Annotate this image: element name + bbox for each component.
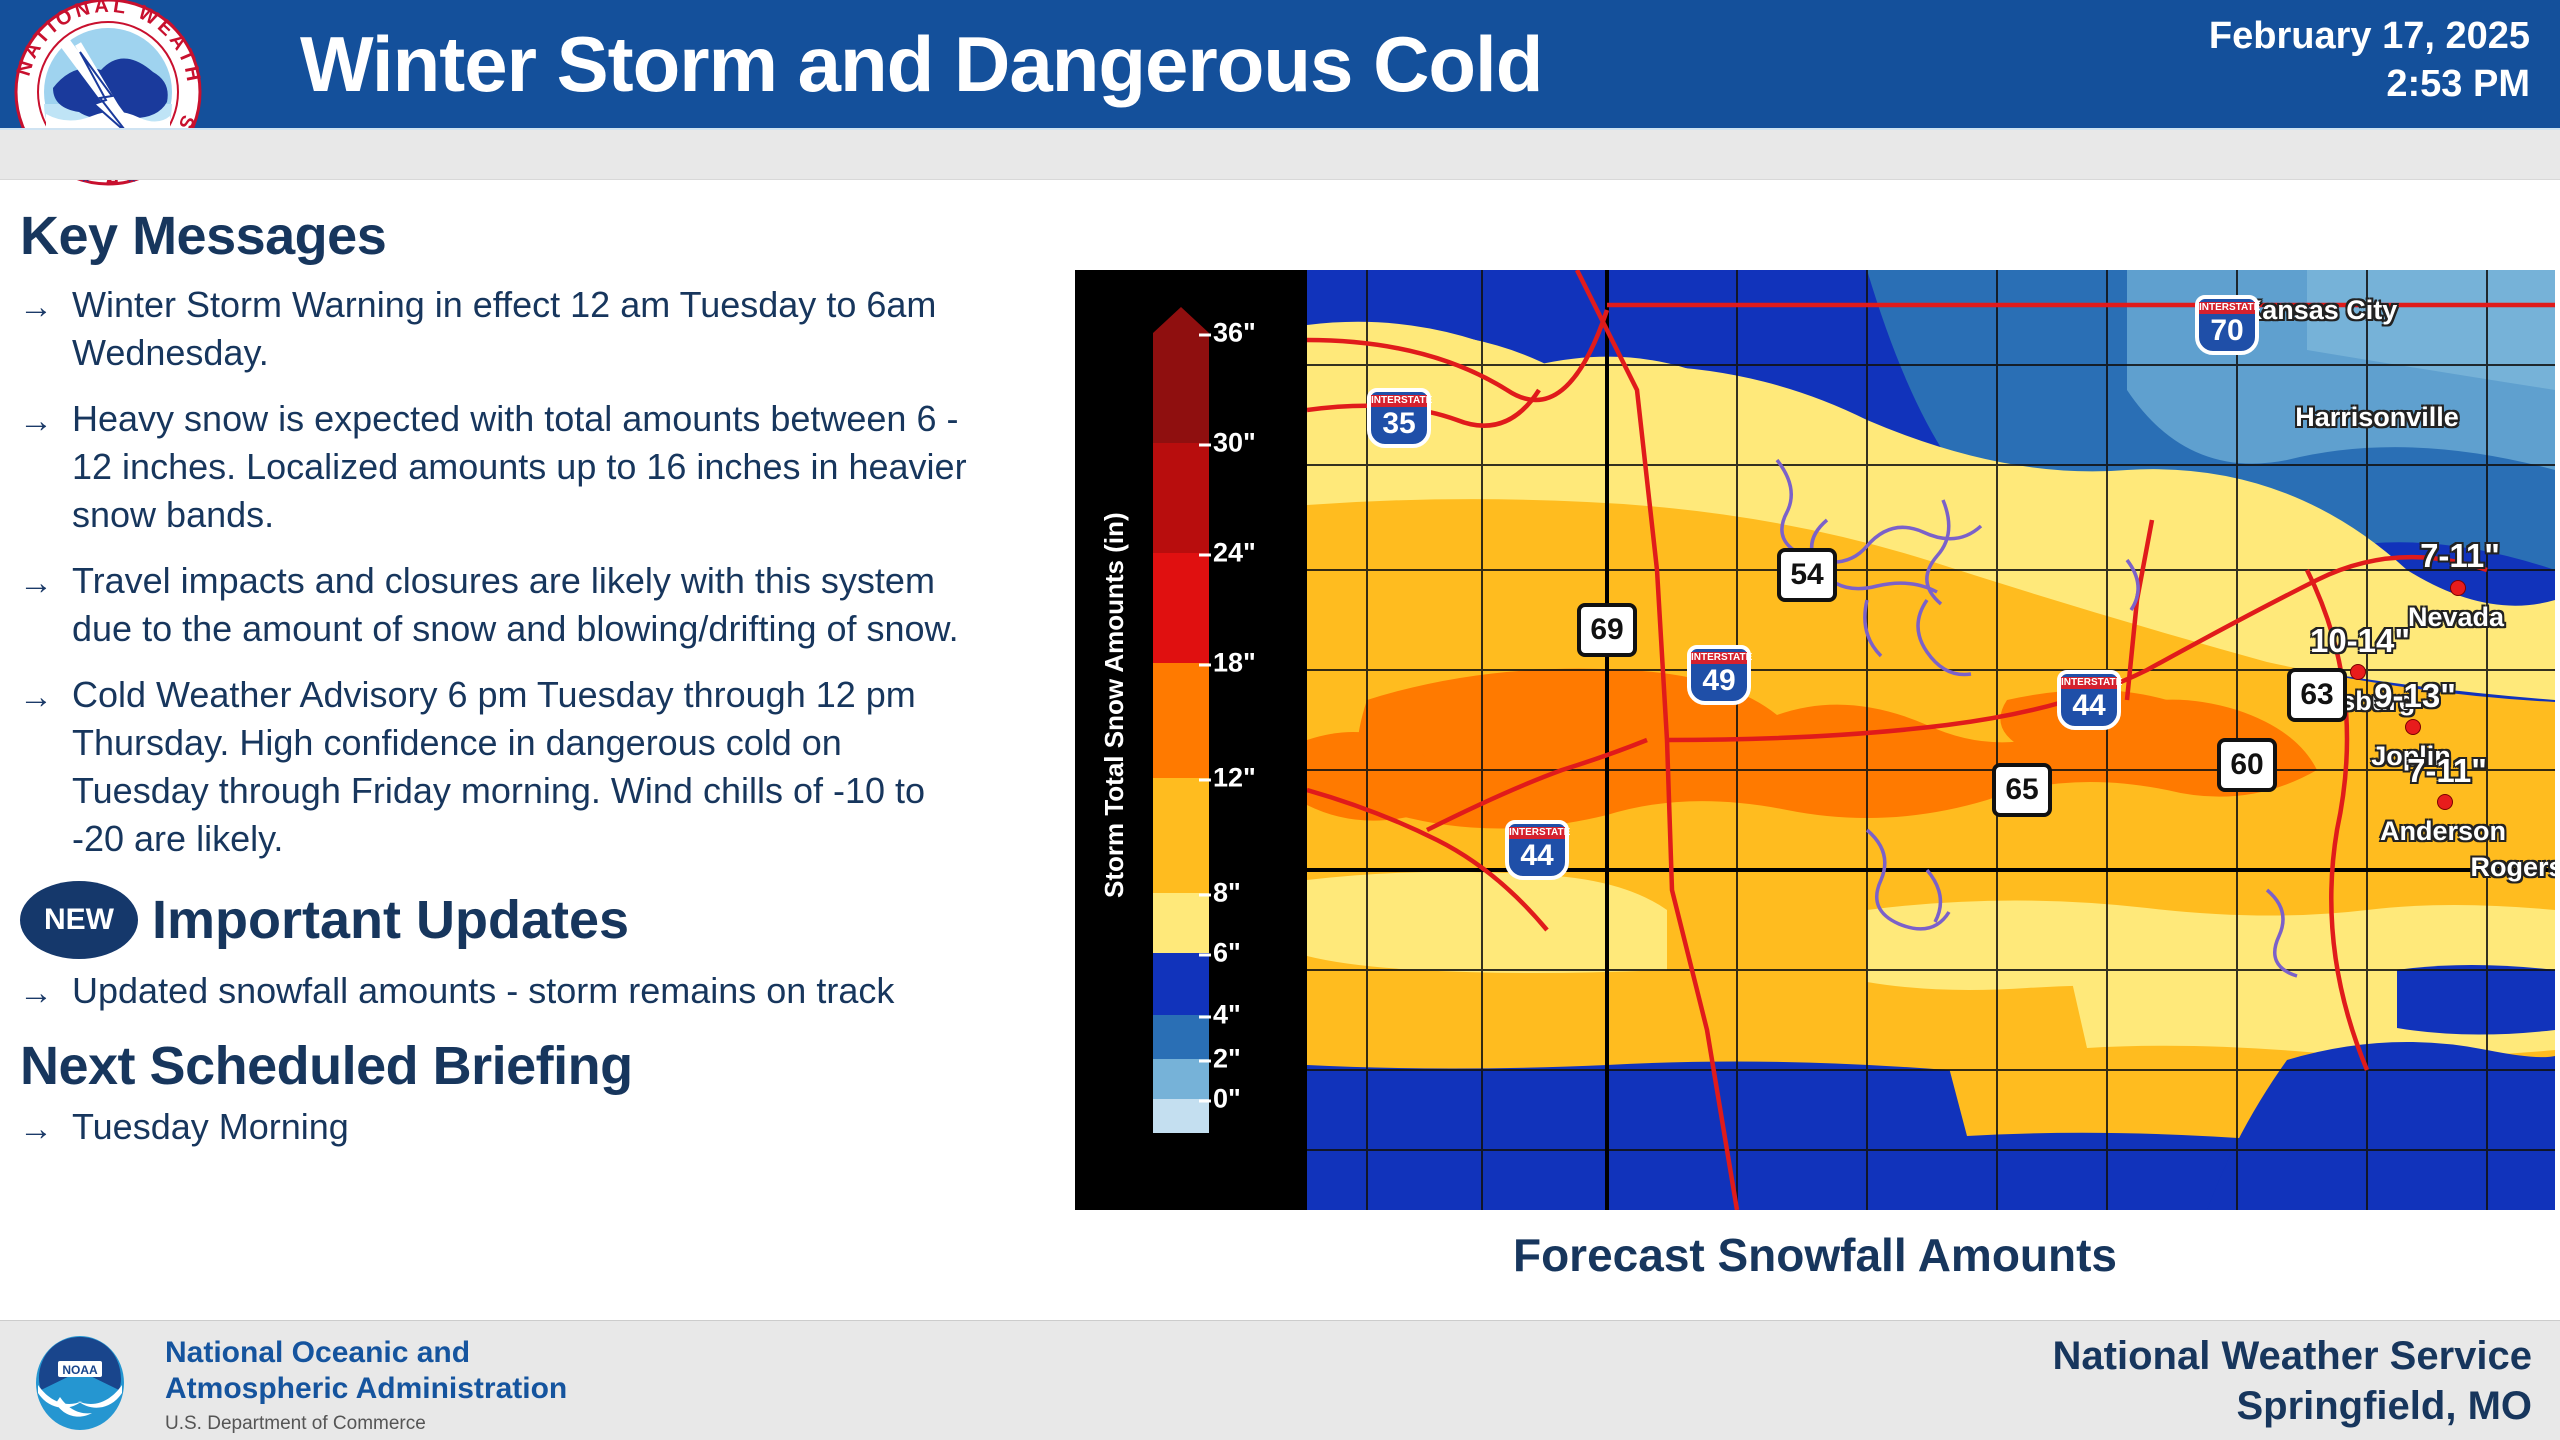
- list-item: → Tuesday Morning: [0, 1103, 1060, 1153]
- city-dot-joplin: [2405, 719, 2421, 735]
- colorbar-segment-4-6: [1153, 953, 1209, 1015]
- update-text: Updated snowfall amounts - storm remains…: [72, 967, 972, 1017]
- colorbar-tick-0: 0": [1213, 1084, 1241, 1115]
- key-message-text: Heavy snow is expected with total amount…: [72, 395, 972, 539]
- shield-number: 35: [1382, 407, 1415, 441]
- page-footer: NOAA National Oceanic and Atmospheric Ad…: [0, 1320, 2560, 1440]
- shield-number: 49: [1702, 664, 1735, 698]
- page-header: NATIONAL WEATHER SERVICE ★ ★ ★ Winter St…: [0, 0, 2560, 128]
- colorbar-segment-below-0: [1153, 1099, 1209, 1133]
- list-item: → Travel impacts and closures are likely…: [0, 557, 1060, 653]
- map-colorbar: Storm Total Snow Amounts (in) 36" 30" 24…: [1075, 270, 1307, 1210]
- briefing-date: February 17, 2025: [2209, 12, 2530, 60]
- shield-banner: INTERSTATE: [1509, 827, 1565, 839]
- colorbar-tick-36: 36": [1213, 318, 1256, 349]
- us-route-shield-60: 60: [2217, 738, 2277, 792]
- noaa-logo-icon: NOAA: [30, 1331, 130, 1431]
- city-label-kansas-city: Kansas City: [2243, 295, 2398, 325]
- important-updates-list: → Updated snowfall amounts - storm remai…: [0, 967, 1060, 1017]
- arrow-icon: →: [0, 557, 72, 653]
- noaa-line-1: National Oceanic and: [165, 1335, 567, 1371]
- noaa-badge-text: NOAA: [62, 1363, 98, 1377]
- us-route-shield-65: 65: [1992, 763, 2052, 817]
- colorbar-arrow-top: [1153, 307, 1209, 333]
- arrow-icon: →: [0, 395, 72, 539]
- list-item: → Updated snowfall amounts - storm remai…: [0, 967, 1060, 1017]
- arrow-icon: →: [0, 1103, 72, 1153]
- shield-number: 69: [1590, 613, 1623, 647]
- page-title: Winter Storm and Dangerous Cold: [300, 10, 1860, 118]
- colorbar-tick-2: 2": [1213, 1044, 1241, 1075]
- important-updates-heading: Important Updates: [152, 890, 629, 950]
- header-divider-strip: [0, 128, 2560, 180]
- city-label-harrisonville: Harrisonville: [2295, 402, 2459, 432]
- important-updates-header: NEW Important Updates: [0, 881, 1060, 959]
- interstate-shield-70: INTERSTATE 70: [2195, 295, 2259, 355]
- colorbar-tick-4: 4": [1213, 1000, 1241, 1031]
- interstate-shield-35: INTERSTATE 35: [1367, 388, 1431, 448]
- colorbar-tick-8: 8": [1213, 878, 1241, 909]
- noaa-agency-text: National Oceanic and Atmospheric Adminis…: [165, 1335, 567, 1437]
- office-line-1: National Weather Service: [2053, 1331, 2532, 1381]
- next-briefing-list: → Tuesday Morning: [0, 1103, 1060, 1153]
- shield-number: 65: [2005, 773, 2038, 807]
- key-message-text: Winter Storm Warning in effect 12 am Tue…: [72, 281, 972, 377]
- us-route-shield-69: 69: [1577, 603, 1637, 657]
- shield-number: 44: [1520, 839, 1553, 873]
- city-label-anderson: Anderson: [2380, 816, 2506, 846]
- list-item: → Cold Weather Advisory 6 pm Tuesday thr…: [0, 671, 1060, 863]
- colorbar-tick-30: 30": [1213, 428, 1256, 459]
- colorbar-gradient: [1153, 333, 1209, 1133]
- shield-banner: INTERSTATE: [2061, 677, 2117, 689]
- colorbar-tick-12: 12": [1213, 763, 1256, 794]
- shield-banner: INTERSTATE: [1691, 652, 1747, 664]
- map-caption: Forecast Snowfall Amounts: [1075, 1228, 2555, 1282]
- shield-banner: INTERSTATE: [2199, 302, 2255, 314]
- key-messages-list: → Winter Storm Warning in effect 12 am T…: [0, 281, 1060, 863]
- list-item: → Heavy snow is expected with total amou…: [0, 395, 1060, 539]
- snow-amount-anderson: 7-11": [2407, 752, 2487, 790]
- arrow-icon: →: [0, 671, 72, 863]
- city-dot-anderson: [2437, 794, 2453, 810]
- colorbar-segment-12-18: [1153, 663, 1209, 778]
- shield-number: 70: [2210, 314, 2243, 348]
- colorbar-segment-2-4: [1153, 1015, 1209, 1059]
- colorbar-tick-24: 24": [1213, 538, 1256, 569]
- city-dot-nevada: [2450, 580, 2466, 596]
- nws-office-text: National Weather Service Springfield, MO: [2053, 1331, 2532, 1431]
- key-messages-heading: Key Messages: [20, 205, 1060, 267]
- colorbar-segment-8-12: [1153, 778, 1209, 893]
- shield-number: 60: [2230, 748, 2263, 782]
- interstate-shield-49: INTERSTATE 49: [1687, 645, 1751, 705]
- colorbar-tick-6: 6": [1213, 938, 1241, 969]
- noaa-line-2: Atmospheric Administration: [165, 1371, 567, 1407]
- colorbar-segment-18-24: [1153, 553, 1209, 663]
- colorbar-segment-30-36: [1153, 333, 1209, 443]
- us-route-shield-63: 63: [2287, 668, 2347, 722]
- briefing-time: 2:53 PM: [2209, 60, 2530, 108]
- snowfall-forecast-map[interactable]: Kansas City Harrisonville Sedalia Columb…: [1075, 270, 2555, 1210]
- city-label-nevada: Nevada: [2408, 602, 2504, 632]
- arrow-icon: →: [0, 281, 72, 377]
- new-badge: NEW: [20, 881, 138, 959]
- colorbar-segment-0-2: [1153, 1059, 1209, 1099]
- key-message-text: Cold Weather Advisory 6 pm Tuesday throu…: [72, 671, 972, 863]
- next-briefing-text: Tuesday Morning: [72, 1103, 972, 1153]
- key-message-text: Travel impacts and closures are likely w…: [72, 557, 972, 653]
- colorbar-title: Storm Total Snow Amounts (in): [1099, 405, 1139, 1005]
- shield-number: 63: [2300, 678, 2333, 712]
- us-route-shield-54: 54: [1777, 548, 1837, 602]
- next-briefing-heading: Next Scheduled Briefing: [20, 1035, 1060, 1097]
- office-line-2: Springfield, MO: [2053, 1381, 2532, 1431]
- arrow-icon: →: [0, 967, 72, 1017]
- left-content-column: Key Messages → Winter Storm Warning in e…: [0, 205, 1060, 1315]
- colorbar-segment-24-30: [1153, 443, 1209, 553]
- snow-amount-nevada: 7-11": [2420, 537, 2500, 575]
- snow-amount-pittsburg: 10-14": [2310, 622, 2410, 660]
- snow-amount-joplin: 9-13": [2374, 677, 2456, 715]
- colorbar-tick-18: 18": [1213, 648, 1256, 679]
- briefing-datetime: February 17, 2025 2:53 PM: [2209, 12, 2530, 108]
- colorbar-segment-6-8: [1153, 893, 1209, 953]
- shield-banner: INTERSTATE: [1371, 395, 1427, 407]
- interstate-shield-44: INTERSTATE 44: [2057, 670, 2121, 730]
- shield-number: 54: [1790, 558, 1823, 592]
- list-item: → Winter Storm Warning in effect 12 am T…: [0, 281, 1060, 377]
- city-dot-pittsburg: [2350, 664, 2366, 680]
- city-label-rogers: Rogers: [2470, 852, 2555, 882]
- interstate-shield-44-joplin: INTERSTATE 44: [1505, 820, 1569, 880]
- shield-number: 44: [2072, 689, 2105, 723]
- noaa-line-3: U.S. Department of Commerce: [165, 1411, 567, 1437]
